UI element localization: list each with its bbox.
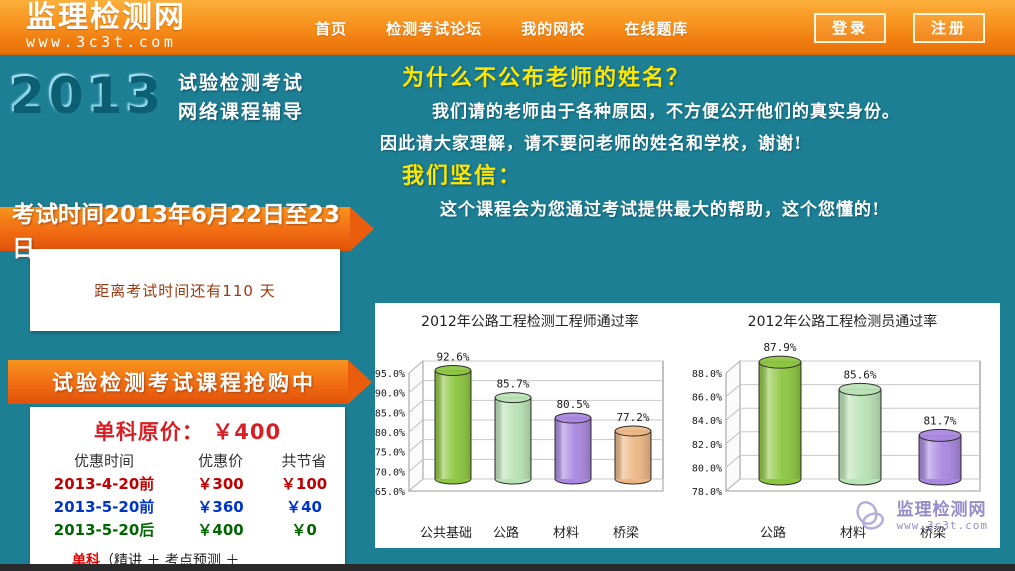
logo-text-cn: 监理检测网: [26, 2, 266, 34]
login-button[interactable]: 登录: [814, 13, 886, 43]
countdown-text: 距离考试时间还有110 天: [94, 280, 275, 301]
chart-title: 2012年公路工程检测工程师通过率: [375, 311, 685, 331]
table-row: 2013-5-20后 ￥400 ￥0: [30, 519, 345, 542]
bottom-strip: [0, 564, 1015, 571]
watermark-text: 监理检测网 www.3c3t.com: [897, 501, 988, 532]
chart-plot-area: 95.0%90.0%85.0%80.0%75.0%70.0%65.0%92.6%…: [375, 343, 685, 503]
row-date: 2013-5-20后: [30, 519, 178, 542]
sale-banner-text: 试验检测考试课程抢购中: [8, 367, 316, 397]
svg-text:85.6%: 85.6%: [843, 368, 876, 381]
svg-text:70.0%: 70.0%: [375, 467, 405, 478]
sale-banner: 试验检测考试课程抢购中: [8, 360, 348, 404]
notice-panel: 为什么不公布老师的姓名？ 我们请的老师由于各种原因，不方便公开他们的真实身份。 …: [380, 62, 1010, 287]
row-date: 2013-4-20前: [30, 473, 178, 496]
table-row: 2013-4-20前 ￥300 ￥100: [30, 473, 345, 496]
svg-text:65.0%: 65.0%: [375, 487, 405, 498]
svg-text:85.7%: 85.7%: [496, 378, 529, 391]
nav-item-myschool[interactable]: 我的网校: [521, 18, 585, 39]
x-axis-label: 公路: [760, 522, 786, 541]
svg-text:87.9%: 87.9%: [763, 343, 796, 354]
row-price: ￥400: [178, 519, 263, 542]
promo-year: 2013: [8, 66, 163, 122]
watermark: 监理检测网 www.3c3t.com: [851, 498, 988, 534]
col-header-date: 优惠时间: [30, 450, 178, 473]
x-axis-label: 公路: [493, 522, 519, 541]
logo-text-url: www.3c3t.com: [26, 34, 266, 50]
svg-text:77.2%: 77.2%: [616, 411, 649, 424]
notice-answer-line2: 因此请大家理解，请不要问老师的姓名和学校，谢谢!: [380, 128, 1010, 160]
svg-text:80.0%: 80.0%: [375, 428, 405, 439]
row-save: ￥0: [263, 519, 345, 542]
nav-item-question-bank[interactable]: 在线题库: [624, 18, 688, 39]
svg-text:82.0%: 82.0%: [692, 440, 722, 451]
watermark-name: 监理检测网: [897, 501, 988, 519]
col-header-price: 优惠价: [178, 450, 263, 473]
x-axis-label: 材料: [553, 522, 579, 541]
svg-text:88.0%: 88.0%: [692, 369, 722, 380]
watermark-url: www.3c3t.com: [897, 519, 988, 532]
svg-text:80.0%: 80.0%: [692, 463, 722, 474]
chart-svg: 95.0%90.0%85.0%80.0%75.0%70.0%65.0%92.6%…: [375, 343, 685, 503]
notice-answer-line1: 我们请的老师由于各种原因，不方便公开他们的真实身份。: [380, 96, 1010, 128]
nav-item-forum[interactable]: 检测考试论坛: [386, 18, 482, 39]
col-header-save: 共节省: [263, 450, 345, 473]
chart-x-axis-labels: 公共基础公路材料桥梁: [375, 522, 685, 542]
svg-text:81.7%: 81.7%: [923, 414, 956, 427]
countdown-box: 距离考试时间还有110 天: [30, 249, 340, 331]
svg-text:92.6%: 92.6%: [436, 350, 469, 363]
site-logo[interactable]: 监理检测网 www.3c3t.com: [26, 2, 266, 54]
chart-plot-area: 88.0%86.0%84.0%82.0%80.0%78.0%87.9%85.6%…: [685, 343, 1000, 503]
pricing-table-header: 优惠时间 优惠价 共节省: [30, 450, 345, 473]
price-headline: 单科原价： ￥400: [30, 417, 345, 447]
chart-engineer-pass-rate: 2012年公路工程检测工程师通过率 95.0%90.0%85.0%80.0%75…: [375, 303, 685, 548]
svg-text:95.0%: 95.0%: [375, 369, 405, 380]
svg-text:85.0%: 85.0%: [375, 408, 405, 419]
x-axis-label: 桥梁: [613, 522, 639, 541]
notice-question: 为什么不公布老师的姓名？: [380, 62, 1010, 96]
main-navigation: 首页 检测考试论坛 我的网校 在线题库: [315, 18, 722, 39]
row-price: ￥360: [178, 496, 263, 519]
promo-subtitle-line1: 试验检测考试: [178, 69, 368, 98]
left-promo-column: 2013 试验检测考试 网络课程辅导 考试时间2013年6月22日至23日 距离…: [0, 55, 372, 571]
table-row: 2013-5-20前 ￥360 ￥40: [30, 496, 345, 519]
pricing-table: 优惠时间 优惠价 共节省 2013-4-20前 ￥300 ￥100 2013-5…: [30, 450, 345, 542]
svg-text:75.0%: 75.0%: [375, 448, 405, 459]
svg-text:90.0%: 90.0%: [375, 389, 405, 400]
promo-subtitle-line2: 网络课程辅导: [178, 98, 368, 127]
register-button[interactable]: 注册: [913, 13, 985, 43]
row-date: 2013-5-20前: [30, 496, 178, 519]
pricing-box: 单科原价： ￥400 优惠时间 优惠价 共节省 2013-4-20前 ￥300 …: [30, 407, 345, 571]
charts-panel: 2012年公路工程检测工程师通过率 95.0%90.0%85.0%80.0%75…: [375, 303, 1000, 548]
svg-text:86.0%: 86.0%: [692, 393, 722, 404]
svg-text:78.0%: 78.0%: [692, 487, 722, 498]
exam-time-banner: 考试时间2013年6月22日至23日: [0, 207, 350, 251]
row-save: ￥40: [263, 496, 345, 519]
svg-text:80.5%: 80.5%: [556, 398, 589, 411]
notice-belief-title: 我们坚信：: [380, 160, 1010, 194]
site-header: 监理检测网 www.3c3t.com 首页 检测考试论坛 我的网校 在线题库 登…: [0, 0, 1015, 55]
row-save: ￥100: [263, 473, 345, 496]
promo-subtitle: 试验检测考试 网络课程辅导: [178, 69, 368, 127]
nav-item-home[interactable]: 首页: [315, 18, 347, 39]
rings-logo-icon: [851, 501, 891, 531]
chart-svg: 88.0%86.0%84.0%82.0%80.0%78.0%87.9%85.6%…: [685, 343, 1000, 503]
x-axis-label: 公共基础: [420, 522, 472, 541]
chart-title: 2012年公路工程检测员通过率: [685, 311, 1000, 331]
notice-belief-line: 这个课程会为您通过考试提供最大的帮助，这个您懂的!: [380, 194, 1010, 226]
promo-banner-2013: 2013 试验检测考试 网络课程辅导: [0, 60, 372, 140]
svg-text:84.0%: 84.0%: [692, 416, 722, 427]
row-price: ￥300: [178, 473, 263, 496]
